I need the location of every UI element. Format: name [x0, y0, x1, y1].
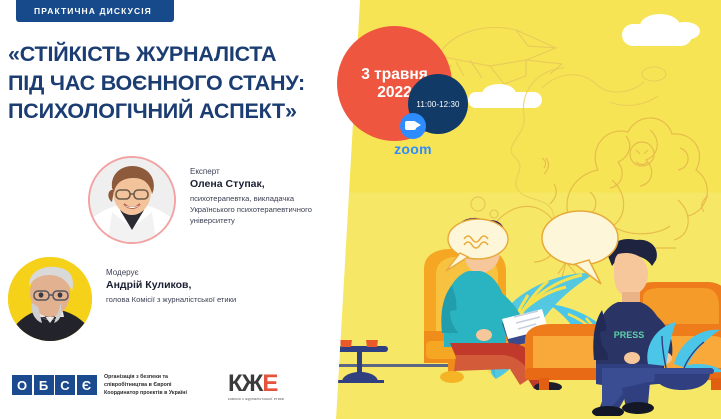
title-line-2: ПІД ЧАС ВОЄННОГО СТАНУ:	[8, 69, 338, 98]
title-line-3: ПСИХОЛОГІЧНИЙ АСПЕКТ»	[8, 97, 338, 126]
speaker-role: Експерт	[190, 166, 312, 177]
avatar-moderator	[8, 257, 92, 341]
discussion-type-badge: ПРАКТИЧНА ДИСКУСІЯ	[16, 0, 174, 22]
osce-letter: С	[55, 375, 75, 395]
kzhe-accent-letter: Е	[262, 370, 277, 397]
zoom-logo: zoom	[381, 113, 445, 157]
page-title: «СТІЙКІСТЬ ЖУРНАЛІСТА ПІД ЧАС ВОЄННОГО С…	[8, 40, 338, 126]
cloud-shape	[482, 84, 516, 104]
kzhe-subtitle: комісія з журналістської етики	[228, 397, 284, 401]
osce-text-line-3: Координатор проектів в Україні	[104, 389, 187, 397]
kzhe-main-letters: КЖ	[228, 370, 262, 397]
speaker-desc-1: голова Комісії з журналістської етики	[106, 294, 236, 305]
speaker-moderator: Модерує Андрій Куликов, голова Комісії з…	[8, 257, 236, 341]
osce-letter-blocks: О Б С Є	[12, 375, 98, 395]
kzhe-wordmark: КЖЕ	[228, 372, 284, 396]
speaker-role: Модерує	[106, 267, 236, 278]
kzhe-logo: КЖЕ комісія з журналістської етики	[228, 372, 284, 401]
speaker-expert-text: Експерт Олена Ступак, психотерапевтка, в…	[190, 156, 312, 226]
cloud-shape	[670, 22, 700, 40]
speaker-moderator-text: Модерує Андрій Куликов, голова Комісії з…	[106, 257, 236, 305]
title-line-1: «СТІЙКІСТЬ ЖУРНАЛІСТА	[8, 40, 338, 69]
osce-text-line-1: Організація з безпеки та	[104, 373, 187, 381]
speaker-desc-1: психотерапевтка, викладачка	[190, 193, 312, 204]
osce-letter: О	[12, 375, 32, 395]
event-date-line-2: 2022	[377, 84, 411, 102]
speaker-name: Олена Ступак,	[190, 177, 312, 193]
speaker-desc-3: університету	[190, 215, 312, 226]
osce-logo: О Б С Є Організація з безпеки та співроб…	[12, 373, 187, 398]
osce-letter: Б	[34, 375, 54, 395]
video-camera-icon	[400, 113, 426, 139]
floor-line	[336, 364, 721, 367]
osce-logo-text: Організація з безпеки та співробітництва…	[104, 373, 187, 398]
poster-canvas: PRESS	[0, 0, 721, 419]
avatar-expert	[88, 156, 176, 244]
osce-letter: Є	[77, 375, 97, 395]
zoom-wordmark: zoom	[381, 141, 445, 157]
speaker-expert: Експерт Олена Ступак, психотерапевтка, в…	[88, 156, 312, 244]
speaker-desc-2: Українського психотерапевтичного	[190, 204, 312, 215]
camera-glyph	[405, 121, 416, 130]
speaker-name: Андрій Куликов,	[106, 278, 236, 294]
osce-text-line-2: співробітництва в Європі	[104, 381, 187, 389]
